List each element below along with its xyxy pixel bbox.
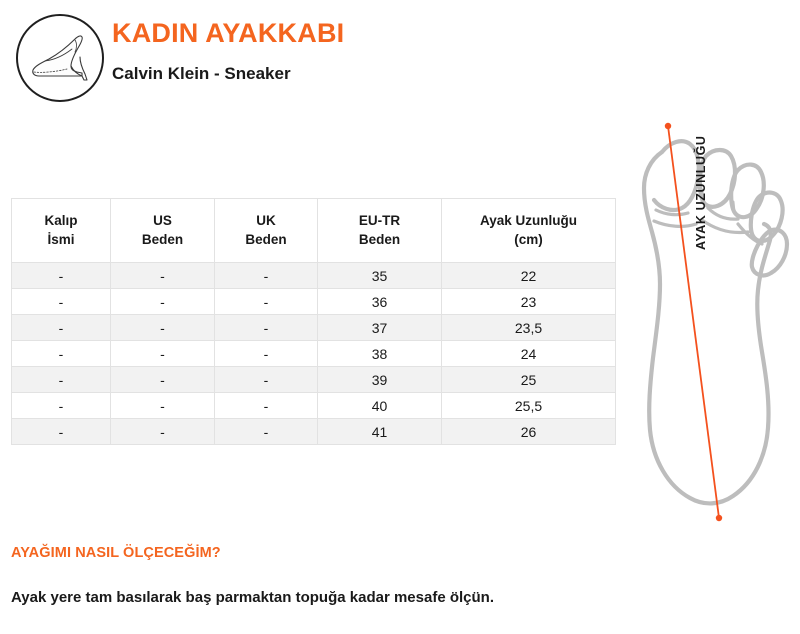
high-heel-shoe-icon — [16, 14, 104, 102]
table-row: - - - 35 22 — [12, 263, 616, 289]
cell-us-beden: - — [111, 263, 215, 289]
column-header-line1: EU-TR — [359, 213, 400, 228]
cell-ayak-uzunlugu: 25,5 — [442, 393, 616, 419]
how-to-measure-heading: AYAĞIMI NASIL ÖLÇECEĞİM? — [11, 545, 711, 561]
cell-ayak-uzunlugu: 26 — [442, 419, 616, 445]
column-header-ayak-uzunlugu: Ayak Uzunluğu (cm) — [442, 199, 616, 263]
title-block: KADIN AYAKKABI Calvin Klein - Sneaker — [112, 16, 344, 86]
foot-sole-diagram — [620, 108, 800, 540]
cell-us-beden: - — [111, 341, 215, 367]
cell-eu-tr-beden: 36 — [318, 289, 442, 315]
cell-kalip-ismi: - — [12, 419, 111, 445]
cell-uk-beden: - — [215, 367, 318, 393]
column-header-line1: Ayak Uzunluğu — [480, 213, 577, 228]
cell-uk-beden: - — [215, 393, 318, 419]
cell-kalip-ismi: - — [12, 341, 111, 367]
cell-kalip-ismi: - — [12, 315, 111, 341]
cell-uk-beden: - — [215, 419, 318, 445]
column-header-eu-tr-beden: EU-TR Beden — [318, 199, 442, 263]
cell-us-beden: - — [111, 419, 215, 445]
size-chart-table-container: Kalıp İsmi US Beden UK Beden EU-TR Beden… — [11, 198, 615, 445]
how-to-measure-section: AYAĞIMI NASIL ÖLÇECEĞİM? Ayak yere tam b… — [11, 545, 711, 606]
table-row: - - - 38 24 — [12, 341, 616, 367]
cell-us-beden: - — [111, 315, 215, 341]
table-row: - - - 41 26 — [12, 419, 616, 445]
cell-kalip-ismi: - — [12, 367, 111, 393]
cell-ayak-uzunlugu: 24 — [442, 341, 616, 367]
table-header-row: Kalıp İsmi US Beden UK Beden EU-TR Beden… — [12, 199, 616, 263]
table-row: - - - 37 23,5 — [12, 315, 616, 341]
cell-us-beden: - — [111, 289, 215, 315]
column-header-line2: Beden — [217, 230, 315, 249]
cell-uk-beden: - — [215, 341, 318, 367]
cell-eu-tr-beden: 41 — [318, 419, 442, 445]
page-header: KADIN AYAKKABI Calvin Klein - Sneaker — [0, 0, 800, 110]
cell-eu-tr-beden: 35 — [318, 263, 442, 289]
cell-us-beden: - — [111, 367, 215, 393]
cell-eu-tr-beden: 38 — [318, 341, 442, 367]
cell-ayak-uzunlugu: 23,5 — [442, 315, 616, 341]
cell-uk-beden: - — [215, 263, 318, 289]
how-to-measure-text: Ayak yere tam basılarak baş parmaktan to… — [11, 589, 711, 606]
cell-ayak-uzunlugu: 22 — [442, 263, 616, 289]
table-row: - - - 39 25 — [12, 367, 616, 393]
column-header-uk-beden: UK Beden — [215, 199, 318, 263]
column-header-line1: US — [153, 213, 172, 228]
cell-ayak-uzunlugu: 25 — [442, 367, 616, 393]
column-header-line1: Kalıp — [44, 213, 77, 228]
cell-eu-tr-beden: 37 — [318, 315, 442, 341]
cell-uk-beden: - — [215, 289, 318, 315]
cell-eu-tr-beden: 39 — [318, 367, 442, 393]
table-row: - - - 40 25,5 — [12, 393, 616, 419]
size-chart-table: Kalıp İsmi US Beden UK Beden EU-TR Beden… — [11, 198, 616, 445]
cell-eu-tr-beden: 40 — [318, 393, 442, 419]
column-header-us-beden: US Beden — [111, 199, 215, 263]
column-header-line2: (cm) — [444, 230, 613, 249]
product-subtitle: Calvin Klein - Sneaker — [112, 62, 344, 86]
column-header-line2: Beden — [113, 230, 212, 249]
column-header-kalip-ismi: Kalıp İsmi — [12, 199, 111, 263]
cell-uk-beden: - — [215, 315, 318, 341]
cell-kalip-ismi: - — [12, 263, 111, 289]
cell-ayak-uzunlugu: 23 — [442, 289, 616, 315]
foot-length-label: AYAK UZUNLUĞU — [694, 100, 708, 250]
cell-us-beden: - — [111, 393, 215, 419]
column-header-line2: Beden — [320, 230, 439, 249]
column-header-line1: UK — [256, 213, 276, 228]
page-title: KADIN AYAKKABI — [112, 16, 344, 50]
cell-kalip-ismi: - — [12, 289, 111, 315]
cell-kalip-ismi: - — [12, 393, 111, 419]
column-header-line2: İsmi — [14, 230, 108, 249]
table-row: - - - 36 23 — [12, 289, 616, 315]
